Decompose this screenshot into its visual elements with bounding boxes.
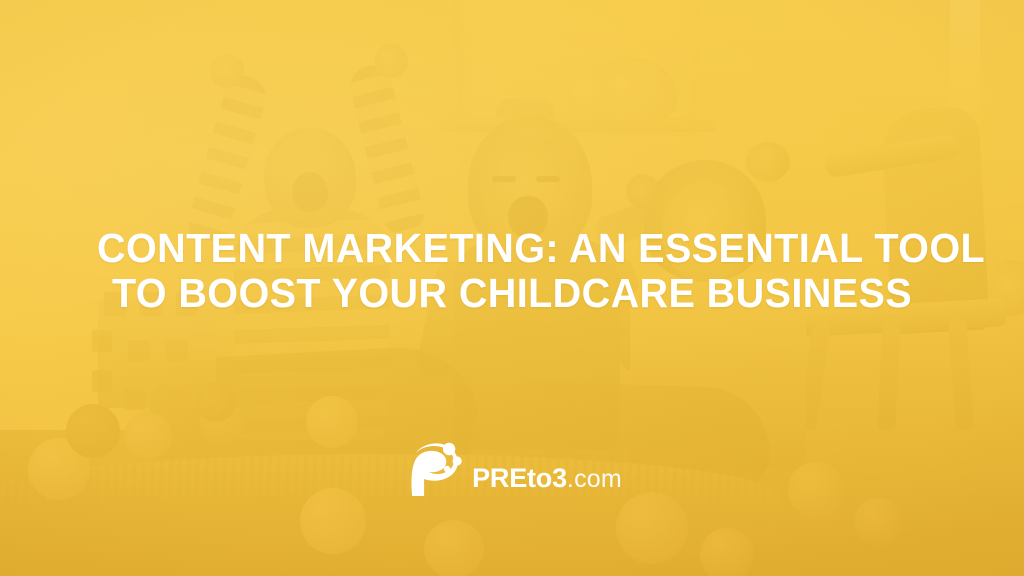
- blog-feature-banner: CONTENT MARKETING: AN ESSENTIAL TOOL TO …: [0, 0, 1024, 576]
- preto3-wordmark: PREto3 .com: [472, 463, 622, 494]
- headline-line-2: TO BOOST YOUR CHILDCARE BUSINESS: [97, 271, 927, 316]
- page-title: CONTENT MARKETING: AN ESSENTIAL TOOL TO …: [97, 226, 927, 316]
- logo-tld-text: .com: [567, 465, 622, 494]
- preto3-logo[interactable]: PREto3 .com: [402, 438, 622, 500]
- logo-brand-text: PREto3: [472, 463, 567, 494]
- preto3-p-bubbles-mark: [402, 439, 464, 499]
- headline-line-1: CONTENT MARKETING: AN ESSENTIAL TOOL: [97, 226, 927, 271]
- banner-overlay: CONTENT MARKETING: AN ESSENTIAL TOOL TO …: [0, 0, 1024, 576]
